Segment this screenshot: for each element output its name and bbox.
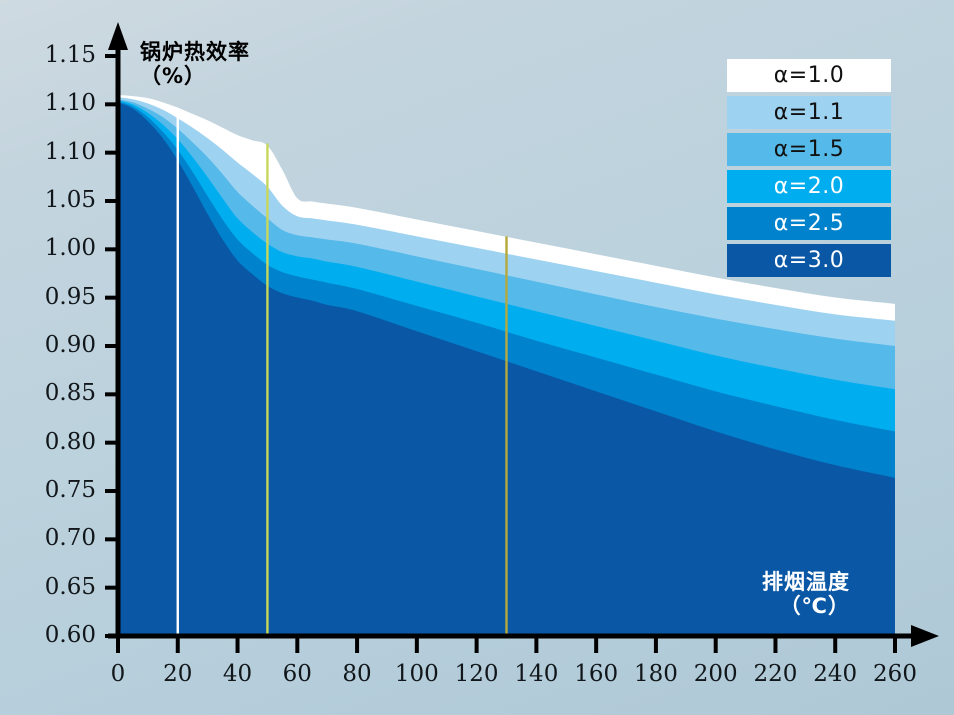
x-axis-tick-label: 220	[745, 663, 805, 686]
y-axis-title: 锅炉热效率 （%）	[140, 40, 250, 88]
x-axis-tick-label: 200	[686, 663, 746, 686]
x-axis-tick-label: 80	[327, 663, 387, 686]
y-axis-title-line1: 锅炉热效率	[140, 40, 250, 64]
legend-item-α-2-5[interactable]: α=2.5	[727, 207, 891, 240]
x-axis-title: 排烟温度 （℃）	[762, 570, 850, 618]
x-axis-tick-label: 140	[506, 663, 566, 686]
y-axis-tick-label: 0.75	[18, 479, 96, 502]
x-axis-tick-label: 260	[865, 663, 925, 686]
x-axis-tick-label: 180	[626, 663, 686, 686]
x-axis-tick-label: 240	[805, 663, 865, 686]
chart-stage: 锅炉热效率 （%） 排烟温度 （℃） 1.151.101.101.051.000…	[0, 0, 954, 715]
x-axis-arrowhead	[911, 625, 939, 647]
legend-item-label: α=1.5	[774, 137, 844, 162]
y-axis-tick-label: 0.85	[18, 382, 96, 405]
legend: α=1.0α=1.1α=1.5α=2.0α=2.5α=3.0	[727, 59, 891, 281]
legend-item-label: α=2.0	[774, 174, 844, 199]
y-axis-tick-label: 0.65	[18, 576, 96, 599]
y-axis-tick-label: 1.10	[18, 141, 96, 164]
legend-item-label: α=1.1	[774, 100, 844, 125]
legend-item-α-2-0[interactable]: α=2.0	[727, 170, 891, 203]
y-axis-tick-label: 1.10	[18, 92, 96, 115]
x-axis-tick-label: 60	[267, 663, 327, 686]
legend-item-label: α=1.0	[774, 63, 844, 88]
y-axis-tick-label: 0.70	[18, 527, 96, 550]
legend-item-label: α=2.5	[774, 211, 844, 236]
y-axis-tick-label: 1.00	[18, 237, 96, 260]
x-axis-tick-label: 20	[148, 663, 208, 686]
x-axis-tick-label: 40	[208, 663, 268, 686]
y-axis-tick-label: 0.60	[18, 624, 96, 647]
x-axis-tick-label: 0	[88, 663, 148, 686]
x-axis-tick-label: 120	[447, 663, 507, 686]
x-axis-tick-label: 100	[387, 663, 447, 686]
legend-item-α-1-5[interactable]: α=1.5	[727, 133, 891, 166]
y-axis-tick-label: 0.80	[18, 431, 96, 454]
legend-item-α-1-1[interactable]: α=1.1	[727, 96, 891, 129]
legend-item-α-1-0[interactable]: α=1.0	[727, 59, 891, 92]
y-axis-tick-label: 0.95	[18, 286, 96, 309]
y-axis-tick-label: 0.90	[18, 334, 96, 357]
legend-item-label: α=3.0	[774, 248, 844, 273]
y-axis-title-line2: （%）	[140, 64, 250, 88]
y-axis-arrowhead	[108, 22, 128, 50]
legend-item-α-3-0[interactable]: α=3.0	[727, 244, 891, 277]
x-axis-title-line1: 排烟温度	[762, 570, 850, 594]
y-axis-tick-label: 1.15	[18, 44, 96, 67]
x-axis-tick-label: 160	[566, 663, 626, 686]
x-axis-title-line2: （℃）	[762, 594, 850, 618]
y-axis-tick-label: 1.05	[18, 189, 96, 212]
